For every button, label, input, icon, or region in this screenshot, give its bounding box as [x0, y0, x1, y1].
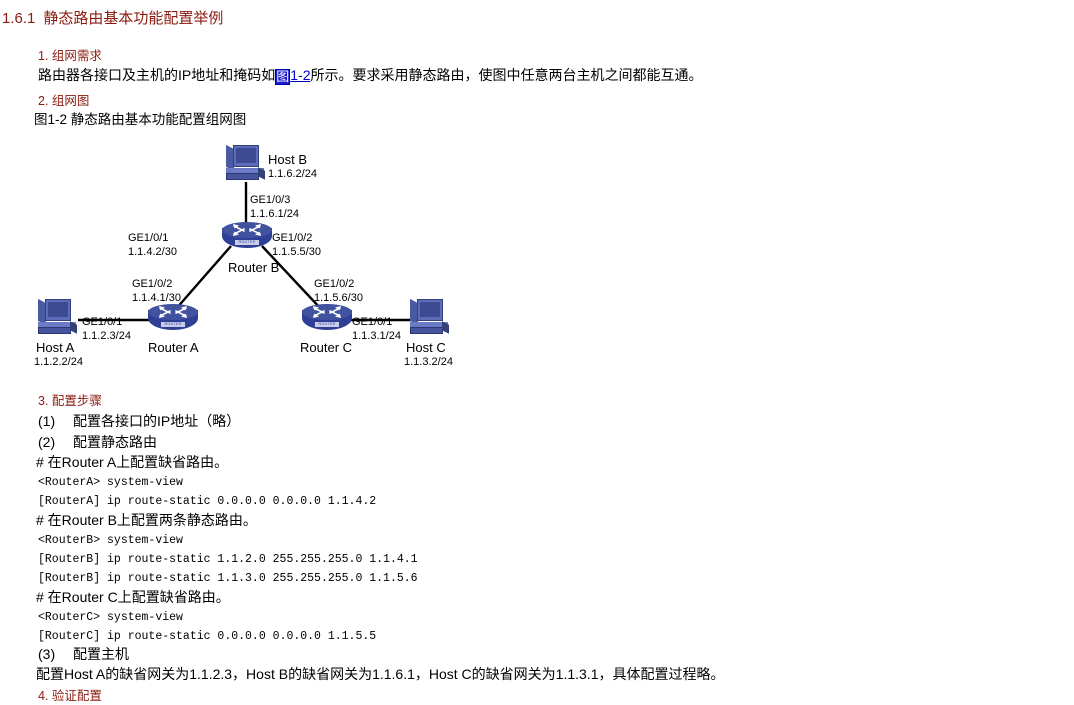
router-a-tag: ROUTER: [161, 322, 185, 327]
iface-rb-ge1-0-1-port: GE1/0/1: [128, 232, 168, 245]
pc-base-front: [38, 327, 71, 334]
iface-ra-ge1-0-2-port: GE1/0/2: [132, 278, 172, 291]
figure-caption: 图1-2 静态路由基本功能配置组网图: [34, 110, 246, 130]
node-host-a-name: Host A: [36, 340, 74, 355]
section-title: 静态路由基本功能配置举例: [43, 10, 223, 27]
step-comment-router-b: # 在Router B上配置两条静态路由。: [36, 510, 257, 531]
step-item-1: (1) 配置各接口的IP地址（略）: [38, 411, 240, 432]
node-host-a-address: 1.1.2.2/24: [34, 356, 83, 369]
console-line-1: <RouterA> system-view: [38, 473, 183, 492]
requirement-paragraph: 路由器各接口及主机的IP地址和掩码如图1-2所示。要求采用静态路由，使图中任意两…: [38, 65, 702, 86]
node-router-a-icon: ROUTER: [148, 304, 198, 336]
console-line-4: [RouterB] ip route-static 1.1.2.0 255.25…: [38, 550, 418, 569]
node-host-b-name: Host B: [268, 152, 307, 167]
step-item-3: (3) 配置主机: [38, 644, 129, 665]
iface-rb-ge1-0-1-address: 1.1.4.2/30: [128, 246, 177, 259]
subsection-heading-topology: 2. 组网图: [38, 92, 89, 110]
iface-rb-ge1-0-3-port: GE1/0/3: [250, 194, 290, 207]
router-c-tag: ROUTER: [315, 322, 339, 327]
node-router-c-name: Router C: [300, 340, 352, 355]
document-page: 1.6.1静态路由基本功能配置举例 1. 组网需求 路由器各接口及主机的IP地址…: [0, 0, 1074, 696]
node-host-a-icon: [36, 298, 80, 336]
iface-rc-ge1-0-1-port: GE1/0/1: [352, 316, 392, 329]
iface-rc-ge1-0-2-port: GE1/0/2: [314, 278, 354, 291]
pc-base-front: [226, 173, 259, 180]
router-arrows-icon: [311, 305, 343, 319]
node-router-b-name: Router B: [228, 260, 279, 275]
router-arrows-icon: [157, 305, 189, 319]
node-host-c-address: 1.1.3.2/24: [404, 356, 453, 369]
step-host-gateways: 配置Host A的缺省网关为1.1.2.3，Host B的缺省网关为1.1.6.…: [36, 664, 724, 685]
node-router-b-icon: ROUTER: [222, 222, 272, 254]
router-b-tag: ROUTER: [235, 240, 259, 245]
node-host-c-name: Host C: [406, 340, 446, 355]
subsection-heading-requirement: 1. 组网需求: [38, 47, 102, 65]
console-line-2: [RouterA] ip route-static 0.0.0.0 0.0.0.…: [38, 492, 376, 511]
iface-ra-ge1-0-1-address: 1.1.2.3/24: [82, 330, 131, 343]
subsection-heading-steps: 3. 配置步骤: [38, 392, 102, 410]
figure-link-icon[interactable]: 图: [275, 69, 290, 85]
iface-ra-ge1-0-1-port: GE1/0/1: [82, 316, 122, 329]
router-arrows-icon: [231, 223, 263, 237]
node-host-c-icon: [408, 298, 452, 336]
section-number: 1.6.1: [2, 10, 35, 27]
step-comment-router-c: # 在Router C上配置缺省路由。: [36, 587, 230, 608]
node-router-a-name: Router A: [148, 340, 199, 355]
network-topology-diagram: Host B 1.1.6.2/24 GE1/0/3 1.1.6.1/24 ROU: [0, 132, 540, 382]
step-item-2: (2) 配置静态路由: [38, 432, 157, 453]
iface-rb-ge1-0-2-port: GE1/0/2: [272, 232, 312, 245]
console-line-3: <RouterB> system-view: [38, 531, 183, 550]
pc-base-front: [410, 327, 443, 334]
iface-rb-ge1-0-2-address: 1.1.5.5/30: [272, 246, 321, 259]
page-title: 1.6.1静态路由基本功能配置举例: [2, 9, 223, 29]
step-comment-router-a: # 在Router A上配置缺省路由。: [36, 452, 228, 473]
figure-link-text[interactable]: 1-2: [290, 67, 310, 83]
requirement-suffix: 所示。要求采用静态路由，使图中任意两台主机之间都能互通。: [310, 67, 702, 83]
node-host-b-icon: [224, 144, 268, 182]
console-line-5: [RouterB] ip route-static 1.1.3.0 255.25…: [38, 569, 418, 588]
pc-screen-glass: [236, 148, 256, 163]
iface-rc-ge1-0-1-address: 1.1.3.1/24: [352, 330, 401, 343]
iface-rb-ge1-0-3-address: 1.1.6.1/24: [250, 208, 299, 221]
pc-screen-glass: [420, 302, 440, 317]
console-line-6: <RouterC> system-view: [38, 608, 183, 627]
node-router-c-icon: ROUTER: [302, 304, 352, 336]
node-host-b-address: 1.1.6.2/24: [268, 168, 317, 181]
subsection-heading-verify: 4. 验证配置: [38, 687, 102, 705]
pc-screen-glass: [48, 302, 68, 317]
requirement-prefix: 路由器各接口及主机的IP地址和掩码如: [38, 67, 275, 83]
